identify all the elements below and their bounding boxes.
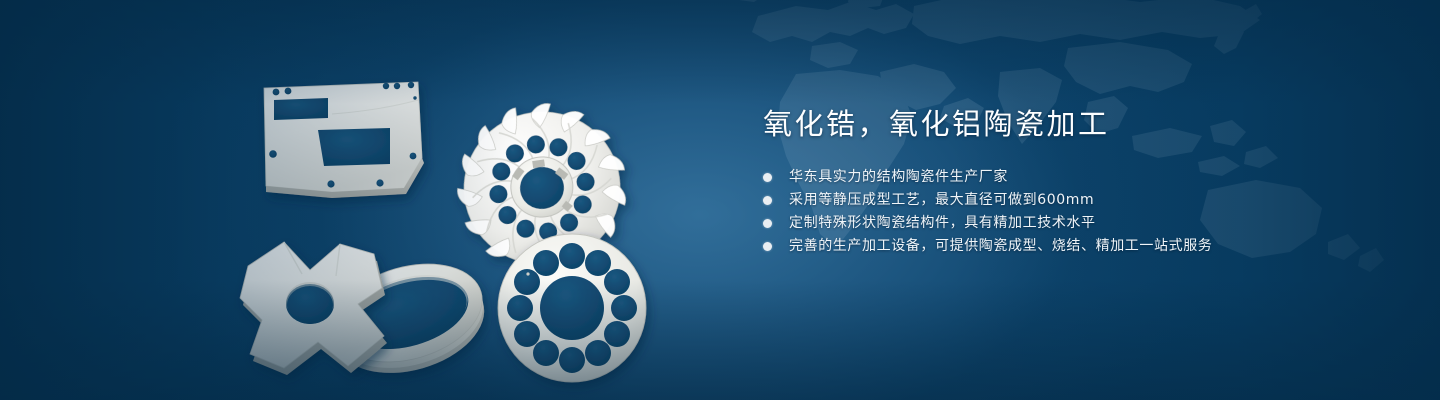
bullet-dot-icon [763, 242, 772, 251]
list-item-label: 定制特殊形状陶瓷结构件，具有精加工技术水平 [789, 215, 1096, 231]
list-item-label: 完善的生产加工设备，可提供陶瓷成型、烧结、精加工一站式服务 [789, 238, 1212, 254]
list-item: 采用等静压成型工艺，最大直径可做到600mm [763, 189, 1323, 212]
list-item: 华东具实力的结构陶瓷件生产厂家 [763, 166, 1323, 189]
list-item-label: 华东具实力的结构陶瓷件生产厂家 [789, 169, 1008, 185]
bullet-dot-icon [763, 219, 772, 228]
bullet-dot-icon [763, 196, 772, 205]
hero-banner: 氧化锆，氧化铝陶瓷加工 华东具实力的结构陶瓷件生产厂家 采用等静压成型工艺，最大… [0, 0, 1440, 400]
banner-copy: 氧化锆，氧化铝陶瓷加工 华东具实力的结构陶瓷件生产厂家 采用等静压成型工艺，最大… [763, 104, 1323, 258]
bullet-dot-icon [763, 173, 772, 182]
feature-list: 华东具实力的结构陶瓷件生产厂家 采用等静压成型工艺，最大直径可做到600mm 定… [763, 166, 1323, 258]
list-item: 定制特殊形状陶瓷结构件，具有精加工技术水平 [763, 212, 1323, 235]
list-item: 完善的生产加工设备，可提供陶瓷成型、烧结、精加工一站式服务 [763, 235, 1323, 258]
banner-headline: 氧化锆，氧化铝陶瓷加工 [763, 104, 1323, 144]
list-item-label: 采用等静压成型工艺，最大直径可做到600mm [789, 192, 1094, 208]
